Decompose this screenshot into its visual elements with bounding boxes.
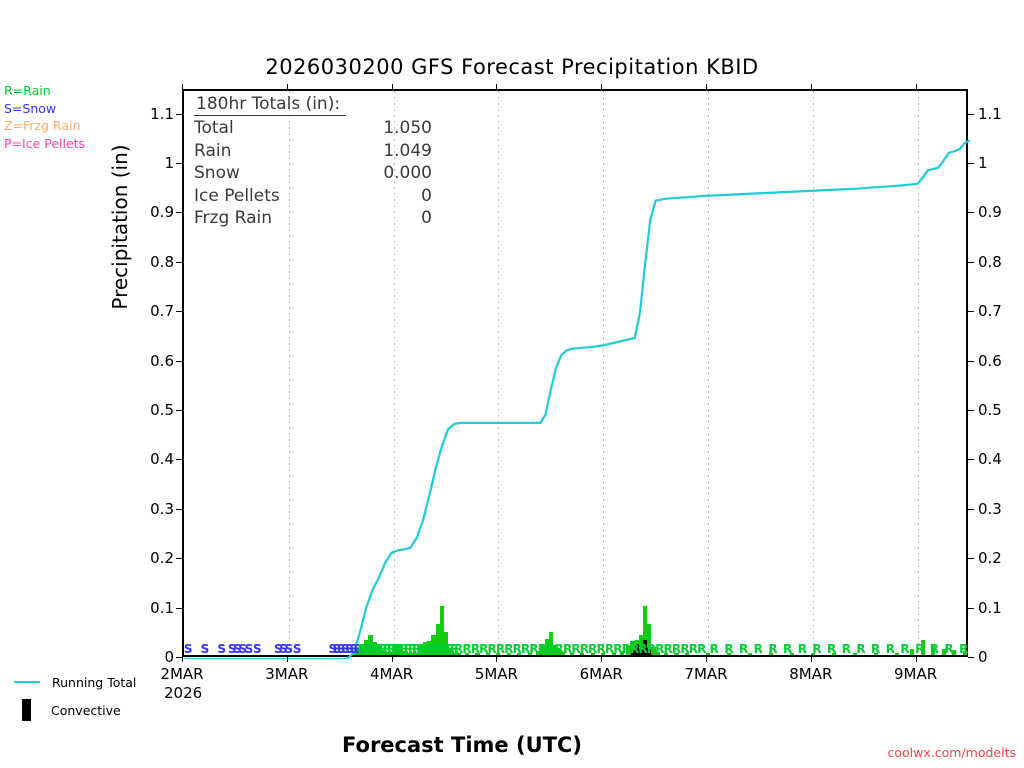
x-tick-mark (601, 84, 602, 89)
y-tick-mark (968, 114, 974, 115)
y-tick-label-right: 0.6 (978, 352, 1024, 370)
x-tick-mark (287, 84, 288, 89)
y-tick-label-right: 0.4 (978, 450, 1024, 468)
precip-type-legend: R=RainS=SnowZ=Frzg RainP=Ice Pellets (4, 82, 85, 152)
ptype-snow-marker: S (293, 643, 302, 655)
legend-running-total-label: Running Total (52, 675, 136, 690)
x-tick-label: 7MAR (671, 665, 741, 683)
y-tick-label-left: 0.9 (128, 203, 174, 221)
totals-row-value: 1.049 (383, 140, 432, 163)
site-credit: coolwx.com/modelts (888, 745, 1016, 760)
totals-row-value: 0 (421, 185, 432, 208)
y-tick-mark (968, 459, 974, 460)
ptype-rain-marker: R (783, 643, 792, 655)
y-tick-label-left: 0.5 (128, 401, 174, 419)
ptype-rain-marker: R (710, 643, 719, 655)
x-tick-label: 6MAR (566, 665, 636, 683)
totals-row: Rain1.049 (194, 140, 432, 163)
x-tick-mark (601, 657, 602, 662)
ptype-rain-marker: R (697, 643, 706, 655)
y-tick-mark (176, 262, 182, 263)
y-tick-label-left: 0.8 (128, 253, 174, 271)
totals-row: Ice Pellets0 (194, 185, 432, 208)
ptype-rain-marker: R (754, 643, 763, 655)
x-tick-label: 2MAR (147, 665, 217, 683)
x-tick-mark (182, 657, 183, 662)
totals-row-label: Snow (194, 162, 240, 185)
y-tick-label-right: 1 (978, 154, 1024, 172)
y-tick-label-right: 0.1 (978, 599, 1024, 617)
x-tick-label: 8MAR (776, 665, 846, 683)
totals-rows: Total1.050Rain1.049Snow0.000Ice Pellets0… (194, 117, 460, 230)
y-tick-label-left: 0.1 (128, 599, 174, 617)
y-tick-mark (968, 509, 974, 510)
y-tick-label-right: 0.2 (978, 549, 1024, 567)
y-tick-label-right: 0.3 (978, 500, 1024, 518)
y-tick-label-right: 1.1 (978, 105, 1024, 123)
totals-summary-box: 180hr Totals (in): Total1.050Rain1.049Sn… (186, 92, 460, 230)
y-tick-label-right: 0.5 (978, 401, 1024, 419)
x-tick-mark (916, 84, 917, 89)
x-tick-mark (706, 657, 707, 662)
x-tick-mark (916, 657, 917, 662)
ptype-rain-marker: R (915, 643, 924, 655)
line-swatch-icon (14, 681, 40, 683)
x-tick-label: 5MAR (461, 665, 531, 683)
totals-row-label: Rain (194, 140, 231, 163)
y-tick-label-right: 0.7 (978, 302, 1024, 320)
chart-title: 2026030200 GFS Forecast Precipitation KB… (0, 55, 1024, 79)
ptype-legend-item-0: R=Rain (4, 82, 85, 100)
totals-row-value: 0 (421, 207, 432, 230)
ptype-rain-marker: R (827, 643, 836, 655)
y-tick-label-left: 0.2 (128, 549, 174, 567)
ptype-rain-marker: R (798, 643, 807, 655)
x-tick-mark (287, 657, 288, 662)
y-tick-mark (968, 361, 974, 362)
ptype-rain-marker: R (959, 643, 968, 655)
ptype-legend-item-2: Z=Frzg Rain (4, 117, 85, 135)
y-tick-label-left: 1.1 (128, 105, 174, 123)
ptype-rain-marker: R (842, 643, 851, 655)
x-tick-label: 3MAR (252, 665, 322, 683)
y-tick-mark (968, 212, 974, 213)
x-tick-mark (392, 657, 393, 662)
totals-row: Total1.050 (194, 117, 432, 140)
y-tick-label-right: 0.8 (978, 253, 1024, 271)
y-tick-mark (176, 114, 182, 115)
precipitation-forecast-chart: 2026030200 GFS Forecast Precipitation KB… (0, 0, 1024, 768)
y-tick-mark (968, 558, 974, 559)
ptype-rain-marker: R (944, 643, 953, 655)
x-tick-mark (496, 657, 497, 662)
y-tick-mark (968, 410, 974, 411)
x-tick-mark (496, 84, 497, 89)
totals-row-value: 1.050 (383, 117, 432, 140)
totals-row-label: Total (194, 117, 234, 140)
ptype-snow-marker: S (245, 643, 254, 655)
y-tick-mark (968, 262, 974, 263)
y-tick-mark (176, 163, 182, 164)
y-tick-label-right: 0.9 (978, 203, 1024, 221)
y-tick-mark (176, 361, 182, 362)
x-tick-mark (706, 84, 707, 89)
x-tick-mark (392, 84, 393, 89)
y-tick-label-left: 0 (128, 648, 174, 666)
ptype-rain-marker: R (812, 643, 821, 655)
totals-row-label: Ice Pellets (194, 185, 280, 208)
ptype-rain-marker: R (886, 643, 895, 655)
ptype-snow-marker: S (284, 643, 293, 655)
ptype-rain-marker: R (900, 643, 909, 655)
ptype-snow-marker: S (184, 643, 193, 655)
y-tick-label-left: 0.6 (128, 352, 174, 370)
y-tick-mark (176, 410, 182, 411)
x-tick-mark (811, 657, 812, 662)
ptype-snow-marker: S (217, 643, 226, 655)
totals-row-value: 0.000 (383, 162, 432, 185)
y-tick-mark (176, 558, 182, 559)
x-tick-mark (182, 84, 183, 89)
ptype-legend-item-1: S=Snow (4, 100, 85, 118)
ptype-rain-marker: R (856, 643, 865, 655)
totals-row-label: Frzg Rain (194, 207, 272, 230)
y-tick-label-left: 0.3 (128, 500, 174, 518)
bar-swatch-icon (22, 699, 31, 721)
legend-convective-label: Convective (51, 703, 121, 718)
totals-row: Snow0.000 (194, 162, 432, 185)
y-tick-label-left: 0.4 (128, 450, 174, 468)
y-tick-mark (968, 608, 974, 609)
x-axis-title: Forecast Time (UTC) (182, 733, 742, 757)
y-tick-mark (176, 509, 182, 510)
ptype-rain-marker: R (871, 643, 880, 655)
series-legend: Running Total Convective (14, 668, 136, 724)
ptype-legend-item-3: P=Ice Pellets (4, 135, 85, 153)
ptype-rain-marker: R (724, 643, 733, 655)
y-tick-mark (176, 608, 182, 609)
ptype-rain-marker: R (768, 643, 777, 655)
legend-running-total: Running Total (14, 668, 136, 696)
y-tick-label-left: 0.7 (128, 302, 174, 320)
y-tick-mark (968, 163, 974, 164)
ptype-snow-marker: S (201, 643, 210, 655)
totals-heading: 180hr Totals (in): (194, 94, 346, 116)
x-tick-mark (811, 84, 812, 89)
ptype-rain-marker: R (739, 643, 748, 655)
y-tick-mark (176, 459, 182, 460)
y-tick-label-left: 1 (128, 154, 174, 172)
legend-convective: Convective (14, 696, 136, 724)
y-tick-mark (176, 212, 182, 213)
y-tick-label-right: 0 (978, 648, 1024, 666)
totals-row: Frzg Rain0 (194, 207, 432, 230)
x-axis-year-label: 2026 (164, 684, 202, 702)
y-tick-mark (176, 311, 182, 312)
y-tick-mark (968, 311, 974, 312)
x-tick-label: 4MAR (357, 665, 427, 683)
ptype-snow-marker: S (253, 643, 262, 655)
y-tick-mark (968, 657, 974, 658)
ptype-rain-marker: R (930, 643, 939, 655)
x-tick-label: 9MAR (881, 665, 951, 683)
